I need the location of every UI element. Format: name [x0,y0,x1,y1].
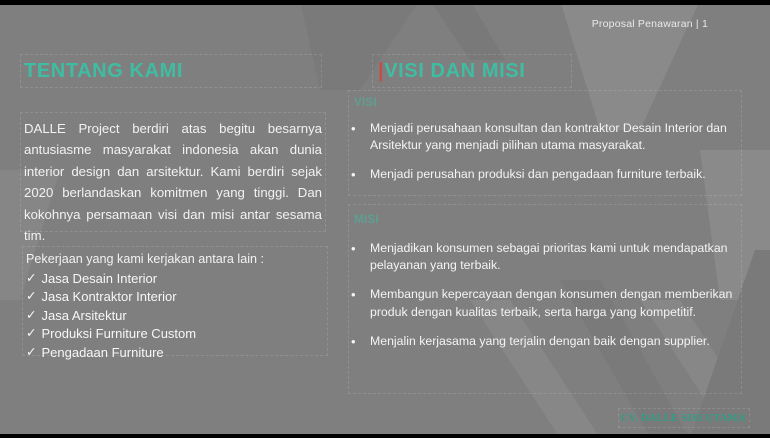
list-item: • Membangun kepercayaan dengan konsumen … [348,286,748,320]
list-item: ✓ Pengadaan Furniture [26,344,326,362]
visi-block: • Menjadi perusahaan konsultan dan kontr… [348,120,748,197]
list-item: • Menjadi perusahan produksi dan pengada… [348,166,748,184]
list-item-label: Menjadikan konsumen sebagai prioritas ka… [370,240,748,274]
visi-list: • Menjadi perusahaan konsultan dan kontr… [348,120,748,185]
list-item: ✓ Jasa Desain Interior [26,270,326,288]
check-icon: ✓ [26,325,36,343]
right-column-heading-label: VISI DAN MISI [384,60,525,82]
misi-list: • Menjadikan konsumen sebagai prioritas … [348,240,748,351]
check-icon: ✓ [26,288,36,306]
list-item-label: Menjadi perusahan produksi dan pengadaan… [370,166,748,183]
check-icon: ✓ [26,307,36,325]
bullet-icon: • [348,166,370,184]
list-item: ✓ Jasa Kontraktor Interior [26,288,326,306]
bullet-icon: • [348,286,370,304]
presentation-slide: Proposal Penawaran | 1 TENTANG KAMI DALL… [0,0,770,438]
services-block: Pekerjaan yang kami kerjakan antara lain… [26,250,326,362]
services-list: ✓ Jasa Desain Interior ✓ Jasa Kontraktor… [26,270,326,362]
list-item-label: Jasa Kontraktor Interior [41,288,176,306]
list-item: ✓ Produksi Furniture Custom [26,325,326,343]
check-icon: ✓ [26,344,36,362]
slide-header-label: Proposal Penawaran | 1 [592,18,708,30]
right-column-heading: |VISI DAN MISI [378,60,525,83]
list-item: • Menjadi perusahaan konsultan dan kontr… [348,120,748,154]
list-item-label: Menjadi perusahaan konsultan dan kontrak… [370,120,748,154]
list-item-label: Menjalin kerjasama yang terjalin dengan … [370,333,748,350]
list-item: ✓ Jasa Arsitektur [26,307,326,325]
list-item-label: Pengadaan Furniture [41,344,163,362]
list-item: • Menjalin kerjasama yang terjalin denga… [348,333,748,351]
misi-sublabel: MISI [354,214,379,226]
list-item-label: Jasa Arsitektur [41,307,126,325]
list-item-label: Jasa Desain Interior [41,270,157,288]
bullet-icon: • [348,120,370,138]
services-list-title: Pekerjaan yang kami kerjakan antara lain… [26,250,326,269]
about-us-paragraph: DALLE Project berdiri atas begitu besarn… [24,118,322,246]
company-footer-logo: CV. DALLE SISI UTAMA [621,413,746,424]
misi-block: • Menjadikan konsumen sebagai prioritas … [348,240,748,363]
bottom-letterbox-band [0,434,770,438]
list-item-label: Produksi Furniture Custom [41,325,196,343]
bullet-icon: • [348,333,370,351]
visi-sublabel: VISI [354,97,377,109]
check-icon: ✓ [26,270,36,288]
bullet-icon: • [348,240,370,258]
top-letterbox-band [0,0,770,5]
list-item-label: Membangun kepercayaan dengan konsumen de… [370,286,748,320]
left-column-heading: TENTANG KAMI [24,60,183,83]
list-item: • Menjadikan konsumen sebagai prioritas … [348,240,748,274]
